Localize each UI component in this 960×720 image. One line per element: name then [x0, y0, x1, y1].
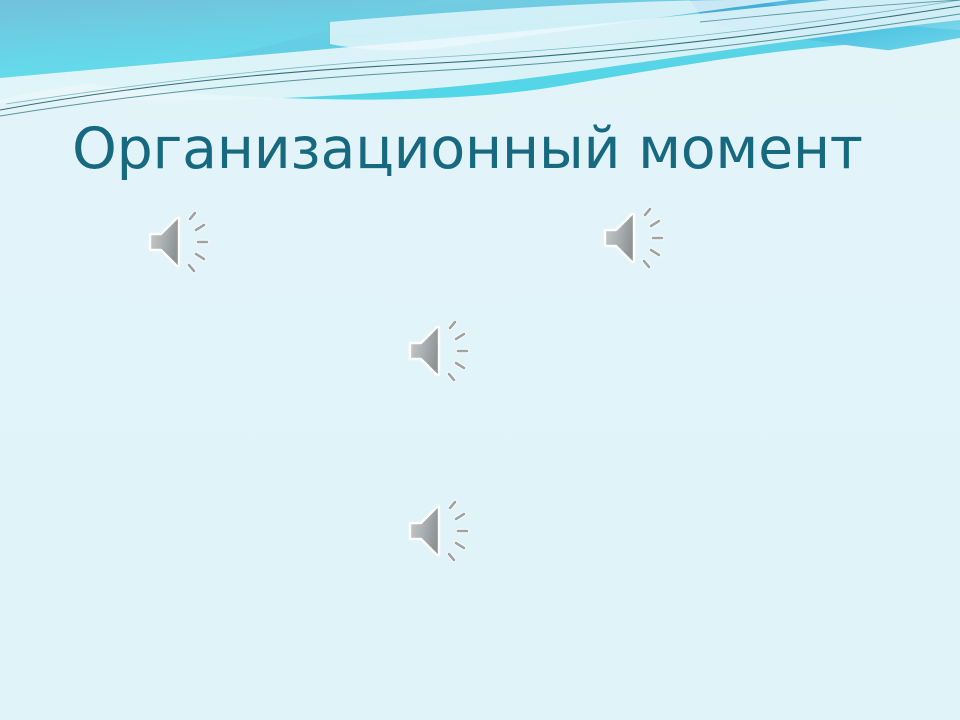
page-title: Организационный момент: [72, 120, 863, 180]
slide-background-wave-decoration: [0, 0, 960, 720]
audio-clip-3[interactable]: [403, 318, 479, 384]
presentation-slide: Организационный момент: [0, 0, 960, 720]
speaker-audio-icon: [403, 318, 479, 384]
audio-clip-1[interactable]: [143, 209, 219, 275]
audio-clip-2[interactable]: [598, 205, 674, 271]
speaker-audio-icon: [143, 209, 219, 275]
speaker-audio-icon: [403, 498, 479, 564]
slide-title-placeholder[interactable]: Организационный момент: [72, 112, 892, 188]
audio-clip-4[interactable]: [403, 498, 479, 564]
speaker-audio-icon: [598, 205, 674, 271]
